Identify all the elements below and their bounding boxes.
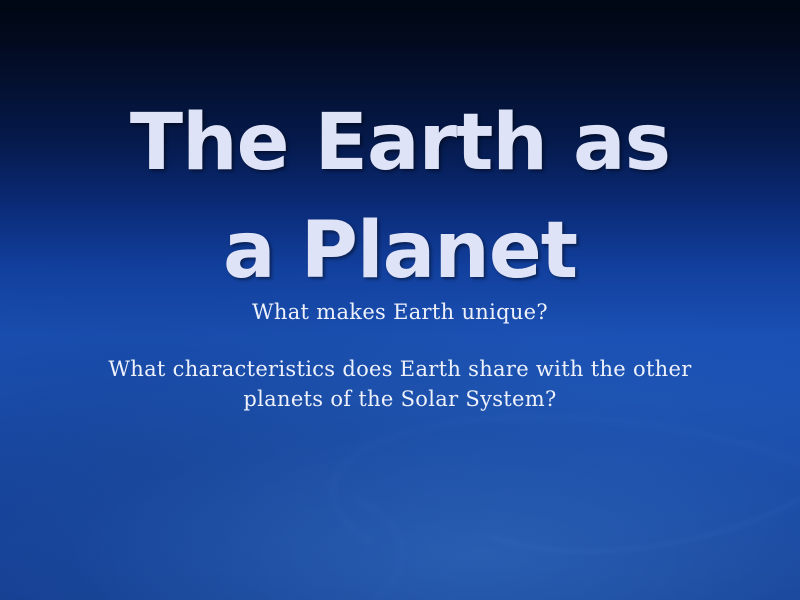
slide-subtitle: What makes Earth unique? What characteri… [90, 298, 710, 414]
subtitle-spacer [90, 328, 710, 355]
subtitle-question-1: What makes Earth unique? [90, 298, 710, 328]
background-swirl-2 [321, 391, 800, 600]
slide-title: The Earth as a Planet [0, 90, 800, 305]
background-swirl-3 [0, 448, 412, 600]
background-glow [0, 400, 800, 600]
presentation-slide: The Earth as a Planet What makes Earth u… [0, 0, 800, 600]
subtitle-question-2: What characteristics does Earth share wi… [90, 355, 710, 415]
